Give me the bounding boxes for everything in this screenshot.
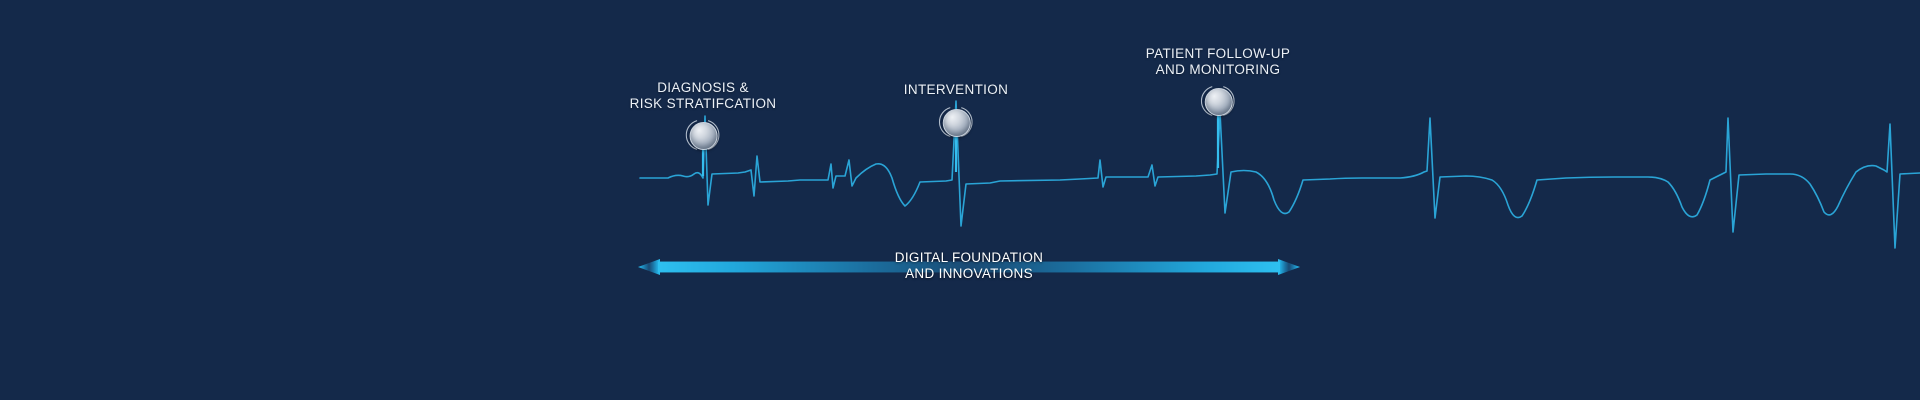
sphere-marker-orb	[943, 109, 971, 137]
milestone-intervention-label-line-1: INTERVENTION	[904, 82, 1008, 98]
milestone-followup-label-line-1: PATIENT FOLLOW-UP	[1146, 46, 1290, 62]
milestone-diagnosis[interactable]: DIAGNOSIS & RISK STRATIFCATION	[630, 80, 777, 152]
digital-foundation-caption-line-1: DIGITAL FOUNDATION	[895, 250, 1043, 266]
milestone-diagnosis-label-line-2: RISK STRATIFCATION	[630, 96, 777, 112]
milestone-followup[interactable]: PATIENT FOLLOW-UP AND MONITORING	[1146, 46, 1290, 118]
milestone-followup-marker[interactable]	[1201, 84, 1235, 118]
patient-journey-banner: DIAGNOSIS & RISK STRATIFCATION INTERVENT…	[0, 0, 1920, 400]
milestone-intervention-marker[interactable]	[939, 105, 973, 139]
digital-foundation-caption: DIGITAL FOUNDATION AND INNOVATIONS	[895, 250, 1043, 282]
milestone-diagnosis-label-line-1: DIAGNOSIS &	[630, 80, 777, 96]
milestone-followup-label: PATIENT FOLLOW-UP AND MONITORING	[1146, 46, 1290, 77]
milestone-stems	[0, 0, 1920, 400]
milestone-diagnosis-marker[interactable]	[686, 118, 720, 152]
digital-foundation-caption-line-2: AND INNOVATIONS	[895, 266, 1043, 282]
milestone-diagnosis-label: DIAGNOSIS & RISK STRATIFCATION	[630, 80, 777, 111]
milestone-intervention-label: INTERVENTION	[904, 82, 1008, 98]
milestone-intervention[interactable]: INTERVENTION	[904, 82, 1008, 139]
digital-foundation-arrow[interactable]: DIGITAL FOUNDATION AND INNOVATIONS	[638, 259, 1300, 275]
milestone-followup-label-line-2: AND MONITORING	[1146, 62, 1290, 78]
